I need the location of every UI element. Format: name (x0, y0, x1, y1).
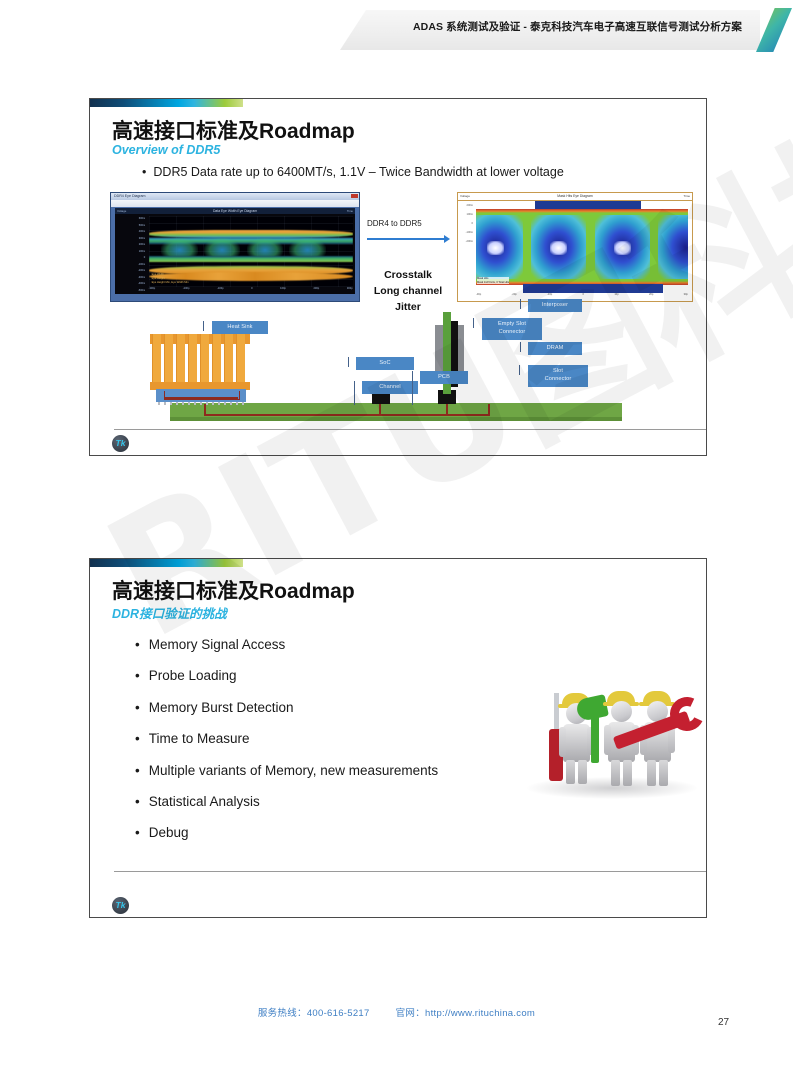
bga-ball (200, 402, 202, 405)
transition-label: DDR4 to DDR5 (367, 219, 422, 228)
list-item-label: Memory Signal Access (149, 637, 286, 652)
slide2-title: 高速接口标准及Roadmap (112, 575, 355, 605)
header-accent-stripe-icon (756, 8, 792, 52)
slide1-subtitle: Overview of DDR5 (112, 143, 220, 157)
challenge-long-channel: Long channel (363, 285, 453, 297)
ddr5-plot-title: Mask Hits Eye Diagram (458, 193, 692, 201)
scope-canvas: Data Eye Width Eye Diagram Voltage Time … (115, 208, 355, 294)
heat-sink-fin (152, 334, 161, 389)
bullet-marker-icon: • (135, 794, 140, 809)
footer-contact: 服务热线：400-616-5217官网：http://www.rituchina… (0, 1005, 793, 1019)
ddr4-eye-diagram-window: DDR4 Eye Diagram Data Eye Width Eye Diag… (110, 192, 360, 302)
list-item: •Multiple variants of Memory, new measur… (135, 763, 438, 778)
heat-sink-fin (224, 334, 233, 389)
challenge-jitter: Jitter (363, 301, 453, 313)
scope-x-axis: -300p-200p-100p0100p200p300p (149, 287, 353, 294)
transition-arrow-icon (367, 238, 445, 240)
bullet-marker-icon: • (135, 825, 140, 840)
callout-channel: Channel (362, 381, 418, 394)
worker-leg (566, 760, 575, 784)
callout-heat-sink: Heat Sink (212, 321, 268, 334)
pcb-trace-via-2 (379, 404, 381, 415)
slide-ddr-validation-challenges: 高速接口标准及Roadmap DDR接口验证的挑战 •Memory Signal… (89, 558, 707, 918)
callout-empty-slot-connector: Empty SlotConnector (482, 318, 542, 340)
worker-leg (647, 760, 656, 786)
ddr5-axis-label-left: Voltage (460, 193, 470, 200)
bga-ball (170, 402, 172, 405)
slide1-footer-rule (114, 429, 707, 430)
hammer-handle-icon (591, 715, 599, 763)
scope-plot-title: Data Eye Width Eye Diagram (115, 208, 355, 214)
tektronix-logo-icon (112, 435, 129, 452)
list-item-label: Probe Loading (149, 668, 237, 683)
list-item: •Memory Burst Detection (135, 700, 438, 715)
ddr5-x-axis: -30p-20p-10p010p20p30p (476, 293, 688, 301)
scope-y-axis: 600m500m400m300m200m100m0-100m-200m-300m… (117, 216, 146, 287)
worker-body (563, 724, 590, 762)
slide1-bullet-text: DDR5 Data rate up to 6400MT/s, 1.1V – Tw… (153, 165, 563, 179)
bullet-marker-icon: • (135, 731, 140, 746)
bullet-marker-icon: • (135, 637, 140, 652)
ddr5-eye-plot: Mask HitsMask 1/2/3 Hits, 0 Total Hits (476, 201, 688, 293)
page-header: ADAS 系统测试及验证 - 泰克科技汽车电子高速互联信号测试分析方案 (0, 0, 793, 58)
page-number: 27 (718, 1017, 729, 1028)
bga-ball (176, 402, 178, 405)
bga-ball (230, 402, 232, 405)
list-item-label: Statistical Analysis (149, 794, 260, 809)
slide-accent-bar (90, 99, 243, 107)
bga-ball (206, 402, 208, 405)
worker-head (611, 701, 632, 722)
workers-illustration (515, 689, 705, 807)
slide-accent-bar-filler (243, 99, 706, 107)
heat-sink-fin (212, 334, 221, 389)
worker-leg (611, 760, 620, 786)
bga-ball (224, 402, 226, 405)
slide2-footer-rule (114, 871, 707, 872)
callout-soc: SoC (356, 357, 414, 370)
leader-channel (354, 381, 363, 405)
bga-ball (182, 402, 184, 405)
footer-website[interactable]: 官网：http://www.rituchina.com (396, 1008, 536, 1019)
heat-sink-fin (200, 334, 209, 389)
pcb-board-underside (170, 417, 622, 421)
worker-arm (604, 725, 611, 755)
ddr5-eye-diagram-window: Mask Hits Eye Diagram Voltage Time 200m1… (457, 192, 693, 302)
list-item-label: Multiple variants of Memory, new measure… (149, 763, 438, 778)
bga-ball (158, 402, 160, 405)
leader-interposer (520, 299, 529, 309)
screwdriver-shaft-icon (554, 693, 559, 731)
bga-ball (236, 402, 238, 405)
heat-sink-fin (188, 334, 197, 389)
list-item-label: Memory Burst Detection (149, 700, 294, 715)
eye-diagram-plot: Eye WidthEye HeightEye Height Min, Eye W… (149, 216, 353, 287)
worker-leg (623, 760, 632, 786)
pcb-trace-via-1 (204, 404, 206, 415)
list-item: •Time to Measure (135, 731, 438, 746)
header-title: ADAS 系统测试及验证 - 泰克科技汽车电子高速互联信号测试分析方案 (382, 19, 742, 34)
bga-ball (164, 402, 166, 405)
worker-arm (559, 727, 566, 757)
heat-sink-fin (164, 334, 173, 389)
eye-diagram-note: Eye WidthEye HeightEye Height Min, Eye W… (152, 273, 189, 284)
soc-die-outline (164, 391, 240, 400)
callout-slot-connector: SlotConnector (528, 365, 588, 387)
bga-ball (212, 402, 214, 405)
bullet-marker-icon: • (142, 165, 146, 179)
heat-sink-fin (236, 334, 245, 389)
leader-soc (348, 357, 357, 367)
leader-heat-sink (203, 321, 213, 331)
scope-window-titlebar: DDR4 Eye Diagram (111, 193, 359, 200)
tektronix-logo-icon (112, 897, 129, 914)
list-item: •Probe Loading (135, 668, 438, 683)
pcb-trace-via-3 (446, 404, 448, 415)
list-item-label: Debug (149, 825, 189, 840)
mask-bar-bottom (523, 284, 663, 293)
leader-pcb (412, 371, 421, 405)
slide2-bullet-list: •Memory Signal Access •Probe Loading •Me… (135, 637, 438, 857)
leader-empty-slot-connector (473, 318, 483, 328)
close-icon[interactable] (351, 194, 358, 198)
slide1-title: 高速接口标准及Roadmap (112, 115, 355, 145)
list-item: •Memory Signal Access (135, 637, 438, 652)
pcb-trace-via-4 (488, 404, 490, 415)
scope-axis-label-right: Time (347, 208, 353, 214)
scope-toolbar[interactable] (111, 200, 359, 207)
bullet-marker-icon: • (135, 668, 140, 683)
bullet-marker-icon: • (135, 700, 140, 715)
ddr5-eye-note: Mask HitsMask 1/2/3 Hits, 0 Total Hits (477, 277, 509, 284)
bga-ball (194, 402, 196, 405)
list-item-label: Time to Measure (149, 731, 250, 746)
callout-interposer: Interposer (528, 299, 582, 312)
footer-hotline: 服务热线：400-616-5217 (258, 1008, 370, 1019)
bga-ball (188, 402, 190, 405)
slide-accent-bar-filler (243, 559, 706, 567)
soc-die-trace (164, 397, 238, 399)
ddr5-y-axis: 200m100m0-100m-200m (458, 201, 475, 293)
challenge-crosstalk: Crosstalk (363, 269, 453, 281)
leader-dram (520, 342, 529, 352)
heat-sink-fin (176, 334, 185, 389)
callout-pcb: PCB (420, 371, 468, 384)
slide-accent-bar (90, 559, 243, 567)
worker-leg (659, 760, 668, 786)
list-item: •Statistical Analysis (135, 794, 438, 809)
slide1-bullet: •DDR5 Data rate up to 6400MT/s, 1.1V – T… (142, 165, 564, 179)
callout-dram: DRAM (528, 342, 582, 355)
worker-leg (578, 760, 587, 784)
slide2-subtitle: DDR接口验证的挑战 (112, 603, 227, 622)
list-item: •Debug (135, 825, 438, 840)
bullet-marker-icon: • (135, 763, 140, 778)
slide-ddr5-overview: 高速接口标准及Roadmap Overview of DDR5 •DDR5 Da… (89, 98, 707, 456)
bga-ball (218, 402, 220, 405)
ddr5-axis-label-right: Time (683, 193, 690, 200)
bga-ball (242, 402, 244, 405)
scope-axis-label-left: Voltage (117, 208, 126, 214)
leader-slot-connector (519, 365, 529, 375)
